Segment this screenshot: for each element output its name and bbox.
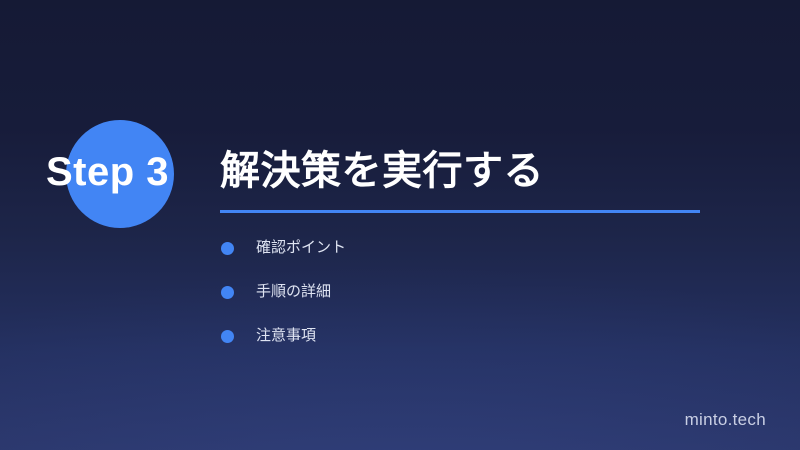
list-item: 手順の詳細 [221,281,346,303]
bullet-dot-icon [221,286,234,299]
list-item: 確認ポイント [221,237,346,259]
step-badge-label: Step 3 [46,150,169,194]
list-item-label: 手順の詳細 [256,281,331,303]
bullet-list: 確認ポイント 手順の詳細 注意事項 [221,237,346,369]
list-item-label: 確認ポイント [256,237,346,259]
list-item-label: 注意事項 [256,325,316,347]
presentation-slide: Step 3 解決策を実行する 確認ポイント 手順の詳細 注意事項 minto.… [0,0,800,450]
bullet-dot-icon [221,242,234,255]
watermark-brand: minto.tech [685,410,766,430]
bullet-dot-icon [221,330,234,343]
title-divider [220,210,700,213]
list-item: 注意事項 [221,325,346,347]
slide-title: 解決策を実行する [220,146,544,196]
